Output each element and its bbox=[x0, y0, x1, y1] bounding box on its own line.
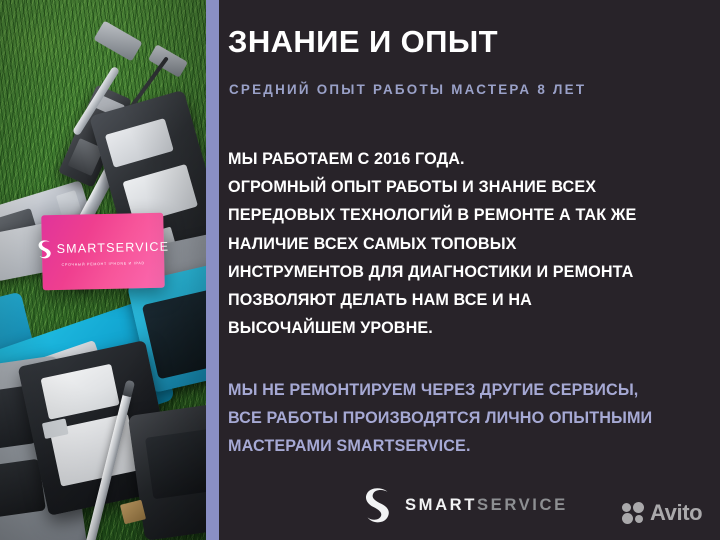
page-title: ЗНАНИЕ И ОПЫТ bbox=[228, 26, 498, 57]
logo-word-service: SERVICE bbox=[477, 495, 568, 514]
avito-dot-1 bbox=[622, 503, 631, 512]
footer-logo-text: SMARTSERVICE bbox=[405, 495, 568, 515]
avito-dot-2 bbox=[633, 502, 644, 513]
avito-dots-icon bbox=[622, 502, 647, 524]
logo-word-smart: SMART bbox=[405, 495, 477, 514]
accent-paragraph: МЫ НЕ РЕМОНТИРУЕМ ЧЕРЕЗ ДРУГИЕ СЕРВИСЫ, … bbox=[228, 376, 720, 461]
smartservice-s-mark-icon bbox=[362, 486, 392, 524]
content-inner: ЗНАНИЕ И ОПЫТ СРЕДНИЙ ОПЫТ РАБОТЫ МАСТЕР… bbox=[228, 0, 720, 540]
avito-watermark: Avito bbox=[622, 500, 702, 526]
lavender-divider bbox=[206, 0, 219, 540]
page-subtitle: СРЕДНИЙ ОПЫТ РАБОТЫ МАСТЕРА 8 ЛЕТ bbox=[229, 83, 586, 96]
avito-label: Avito bbox=[650, 500, 702, 526]
avito-dot-4 bbox=[635, 515, 643, 523]
photo-vignette bbox=[0, 0, 206, 540]
avito-dot-3 bbox=[622, 513, 633, 524]
footer-logo: SMARTSERVICE bbox=[362, 486, 568, 524]
body-paragraph: МЫ РАБОТАЕМ С 2016 ГОДА. ОГРОМНЫЙ ОПЫТ Р… bbox=[228, 145, 720, 342]
tools-photo: SMARTSERVICE СРОЧНЫЙ РЕМОНТ IPHONE И IPA… bbox=[0, 0, 206, 540]
content-panel: ЗНАНИЕ И ОПЫТ СРЕДНИЙ ОПЫТ РАБОТЫ МАСТЕР… bbox=[219, 0, 720, 540]
slide-root: SMARTSERVICE СРОЧНЫЙ РЕМОНТ IPHONE И IPA… bbox=[0, 0, 720, 540]
